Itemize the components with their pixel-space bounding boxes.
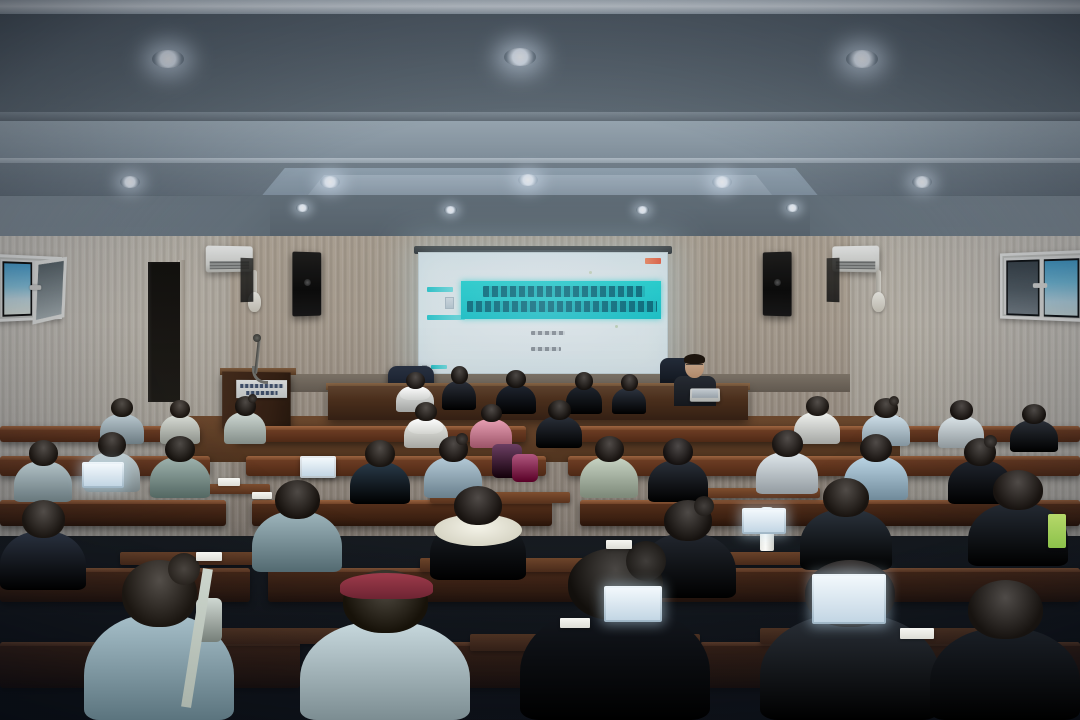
hair-bun: [626, 541, 666, 581]
slide-badge: [645, 258, 661, 264]
audience-member-coat: [150, 457, 210, 498]
glasses-icon: [686, 364, 703, 368]
audience-member: [612, 374, 646, 414]
audience-member-coat: [300, 621, 470, 720]
audience-member: [350, 440, 410, 504]
audience-member-coat: [612, 388, 646, 414]
slide-byline-line-2: [531, 347, 561, 351]
slide-dot: [615, 325, 618, 328]
downlight-icon: [120, 176, 140, 188]
audience-member-head: [806, 396, 829, 416]
audience-member-head: [663, 438, 693, 465]
audience-member: [14, 440, 72, 502]
downlight-icon: [296, 204, 309, 212]
drink-carton: [1048, 514, 1066, 548]
audience-member-coat: [14, 461, 72, 502]
laptop-screen: [84, 464, 122, 486]
lecture-hall-photo: [0, 0, 1080, 720]
audience-member: [930, 580, 1080, 720]
audience-member-head: [365, 440, 395, 467]
audience-member-head: [595, 436, 624, 462]
laptop[interactable]: [742, 508, 786, 534]
audience-member-head: [406, 372, 425, 389]
microphone-icon: [253, 334, 261, 342]
hair-bun: [456, 433, 468, 445]
slide-dot: [589, 271, 592, 274]
audience-member-head: [415, 402, 437, 421]
audience-member-coat: [0, 531, 86, 590]
window-right-glass-left: [1006, 259, 1039, 316]
downlight-icon: [786, 204, 799, 212]
notes-paper: [900, 628, 934, 639]
audience-member-coat: [252, 511, 342, 572]
audience-member: [224, 396, 266, 444]
audience-member: [520, 548, 710, 720]
doorway[interactable]: [148, 262, 180, 402]
audience-member-head: [22, 500, 65, 538]
audience-member-coat: [1010, 420, 1058, 452]
speaker-driver-icon: [774, 279, 781, 286]
downlight-icon: [320, 176, 340, 188]
window-left-open-sash[interactable]: [32, 257, 67, 325]
audience-member-head: [451, 366, 468, 384]
audience-member-coat: [350, 462, 410, 504]
slide-title-line-2: [467, 301, 657, 312]
audience-member: [800, 478, 892, 570]
loudspeaker-right: [763, 252, 792, 317]
audience-member-coat: [580, 457, 638, 498]
loudspeaker-right-secondary: [827, 258, 840, 302]
audience-member-head: [111, 398, 133, 417]
audience-member-head: [772, 430, 803, 457]
laptop-screen: [814, 576, 884, 622]
audience-member-head: [29, 440, 58, 466]
ac-vent: [836, 261, 875, 269]
window-right-handle[interactable]: [1033, 283, 1047, 288]
laptop[interactable]: [82, 462, 124, 488]
laptop-screen: [744, 510, 784, 532]
audience-member-head: [968, 580, 1043, 639]
slide-title-line-1: [483, 286, 645, 297]
audience-member: [536, 400, 582, 448]
audience-member-head: [548, 400, 571, 420]
slide-sidebar-chip: [427, 315, 465, 320]
hair-bun: [248, 394, 257, 403]
slide-thumbnail-icon: [445, 297, 454, 309]
audience-member-coat: [930, 628, 1080, 720]
laptop-screen: [302, 458, 334, 476]
hair-bun: [984, 435, 997, 448]
notes-paper: [606, 540, 632, 549]
shoulder-bag: [512, 454, 538, 482]
hair-bun: [889, 396, 899, 406]
audience-member-head: [993, 470, 1043, 510]
audience-member-head: [165, 436, 195, 462]
projection-screen: [418, 252, 668, 374]
notes-paper: [196, 552, 222, 561]
audience-member-coat: [520, 606, 710, 720]
audience-member: [150, 436, 210, 498]
speaker-driver-icon: [304, 279, 311, 286]
notes-paper: [218, 478, 240, 486]
window-right-glass-right: [1043, 258, 1079, 318]
hair-bun: [694, 496, 714, 516]
laptop-screen: [606, 588, 660, 620]
window-left-handle[interactable]: [30, 285, 42, 290]
loudspeaker-left-secondary: [241, 258, 254, 302]
audience-member-head: [823, 478, 869, 517]
audience-member-head: [275, 480, 320, 519]
audience-member-head: [860, 434, 892, 462]
window-left[interactable]: [0, 254, 62, 322]
audience-member: [648, 438, 708, 502]
downlight-icon: [846, 50, 878, 68]
cap: [340, 573, 433, 599]
audience-member-coat: [224, 412, 266, 444]
audience-member-head: [98, 432, 126, 457]
laptop[interactable]: [604, 586, 662, 622]
downlight-icon: [504, 48, 536, 66]
audience-member-coat: [536, 416, 582, 448]
loudspeaker-left: [292, 252, 321, 317]
laptop[interactable]: [812, 574, 886, 624]
audience-member-head: [481, 404, 502, 422]
downlight-icon: [912, 176, 932, 188]
audience-member-coat: [648, 460, 708, 502]
audience-member-head: [575, 372, 593, 390]
laptop[interactable]: [300, 456, 336, 478]
ceiling: [0, 0, 1080, 250]
ceiling-band-mid: [0, 121, 1080, 161]
audience-member-head: [950, 400, 973, 420]
slide-title-highlight: [461, 281, 661, 319]
downlight-icon: [712, 176, 732, 188]
pendant-lamp-icon: [872, 292, 885, 312]
window-left-glass: [2, 261, 32, 317]
slide-sidebar-chip: [427, 287, 453, 292]
audience-member-head: [170, 400, 190, 418]
audience-member: [1010, 404, 1058, 452]
notes-paper: [252, 492, 272, 499]
cove-light-strip: [0, 0, 1080, 14]
audience-member: [430, 486, 526, 580]
downlight-icon: [444, 206, 457, 214]
audience-member: [0, 500, 86, 590]
name-plate-text-line-1: [240, 384, 283, 388]
notes-paper: [560, 618, 590, 628]
audience-member-head: [454, 486, 502, 525]
downlight-icon: [518, 174, 538, 186]
audience-member-head: [506, 370, 526, 388]
audience-member-head: [621, 374, 638, 391]
speaker-hair: [684, 354, 705, 364]
ceiling-beam-edge-1: [0, 112, 1080, 121]
audience-member-head: [1022, 404, 1046, 424]
audience-member: [580, 436, 638, 498]
slide-byline-line-1: [531, 331, 565, 335]
audience-member: [300, 570, 470, 720]
downlight-icon: [152, 50, 184, 68]
window-right[interactable]: [1000, 250, 1080, 322]
downlight-icon: [636, 206, 649, 214]
audience-area: [0, 392, 1080, 720]
